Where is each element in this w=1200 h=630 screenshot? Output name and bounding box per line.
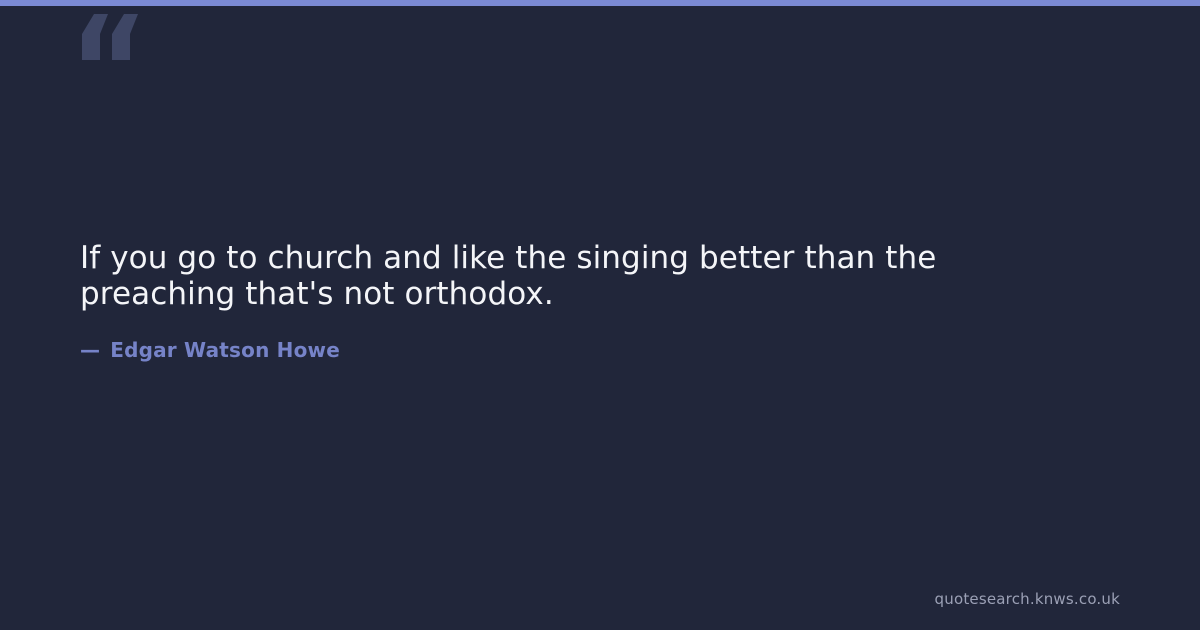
- quote-card: If you go to church and like the singing…: [0, 0, 1200, 630]
- open-quote-icon: [80, 14, 150, 94]
- quote-text: If you go to church and like the singing…: [80, 240, 1020, 312]
- site-watermark: quotesearch.knws.co.uk: [935, 590, 1120, 608]
- quote-body: If you go to church and like the singing…: [80, 240, 1020, 362]
- attribution-dash: —: [80, 338, 100, 362]
- attribution-author-name: Edgar Watson Howe: [110, 338, 340, 362]
- quote-attribution: — Edgar Watson Howe: [80, 312, 1020, 362]
- top-accent-bar: [0, 0, 1200, 6]
